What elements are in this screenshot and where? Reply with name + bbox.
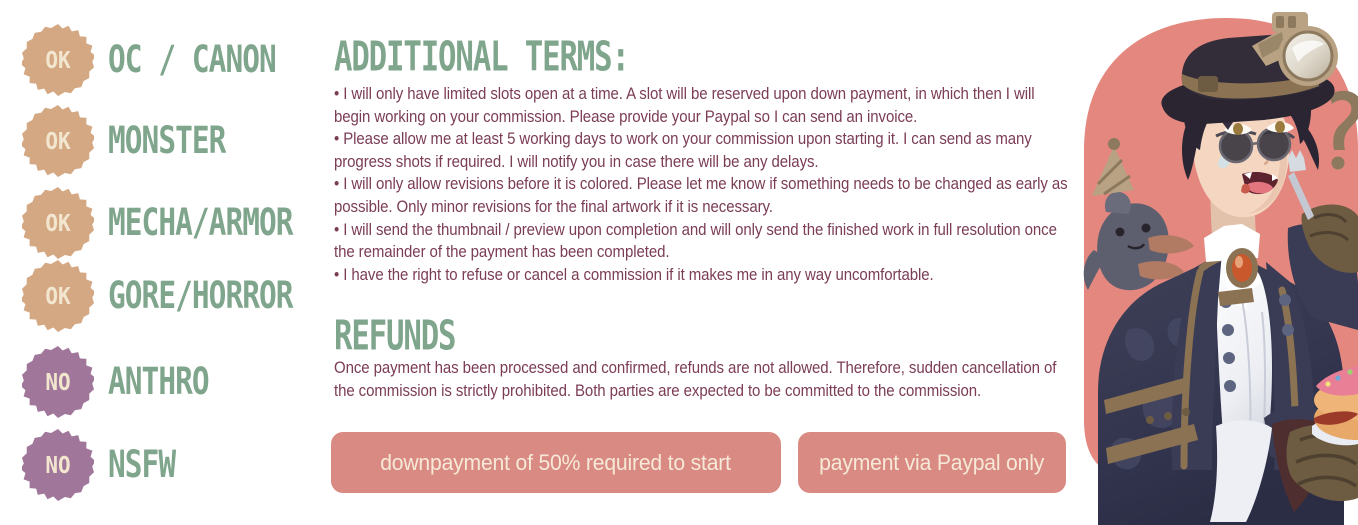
badge-status-text: OK (45, 211, 70, 235)
terms-bullet: • Please allow me at least 5 working day… (334, 128, 1069, 173)
badge-label: MONSTER (108, 119, 225, 163)
terms-bullet: • I will only have limited slots open at… (334, 83, 1069, 128)
badge-label: ANTHRO (108, 360, 209, 404)
terms-bullet: • I have the right to refuse or cancel a… (334, 264, 1069, 287)
terms-content: ADDITIONAL TERMS: • I will only have lim… (331, 0, 1076, 525)
badge-seal-no: NO (22, 346, 94, 418)
brooch-gem-shine (1235, 256, 1243, 268)
character-illustration (1076, 0, 1358, 525)
refunds-paragraph: Once payment has been processed and conf… (334, 357, 1069, 402)
commission-terms-sheet: OK OC / CANON OK MONSTER OK MECHA/ARMOR … (0, 0, 1358, 525)
badge-row: NO NSFW (22, 424, 179, 506)
badge-row: OK MONSTER (22, 100, 232, 182)
downpayment-pill-label: downpayment of 50% required to start (381, 450, 732, 476)
additional-terms-heading: ADDITIONAL TERMS: (334, 36, 629, 77)
badge-seal-ok: OK (22, 260, 94, 332)
badge-label: OC / CANON (108, 38, 276, 82)
badge-status-text: NO (45, 370, 70, 394)
downpayment-pill[interactable]: downpayment of 50% required to start (331, 432, 781, 493)
payment-pill-row: downpayment of 50% required to start pay… (331, 432, 1066, 493)
badge-status-text: OK (45, 48, 70, 72)
badge-row: OK OC / CANON (22, 19, 285, 101)
badge-seal-no: NO (22, 429, 94, 501)
badge-row: OK MECHA/ARMOR (22, 182, 302, 264)
additional-terms-list: • I will only have limited slots open at… (334, 83, 1069, 286)
refunds-body-text: Once payment has been processed and conf… (334, 357, 1069, 402)
paypal-pill[interactable]: payment via Paypal only (798, 432, 1066, 493)
paypal-pill-label: payment via Paypal only (820, 450, 1045, 476)
badge-label: MECHA/ARMOR (108, 201, 293, 245)
badge-status-text: NO (45, 453, 70, 477)
terms-bullet: • I will send the thumbnail / preview up… (334, 219, 1069, 264)
badge-row: OK GORE/HORROR (22, 255, 302, 337)
hat-buckle (1198, 76, 1218, 92)
badge-seal-ok: OK (22, 24, 94, 96)
badge-label: NSFW (108, 443, 175, 487)
content-policy-badge-list: OK OC / CANON OK MONSTER OK MECHA/ARMOR … (0, 0, 330, 525)
refunds-heading: REFUNDS (334, 315, 455, 356)
character-illustration-svg (1076, 0, 1358, 525)
badge-seal-ok: OK (22, 105, 94, 177)
badge-status-text: OK (45, 284, 70, 308)
badge-seal-ok: OK (22, 187, 94, 259)
badge-label: GORE/HORROR (108, 274, 293, 318)
badge-status-text: OK (45, 129, 70, 153)
badge-row: NO ANTHRO (22, 341, 214, 423)
terms-bullet: • I will only allow revisions before it … (334, 173, 1069, 218)
